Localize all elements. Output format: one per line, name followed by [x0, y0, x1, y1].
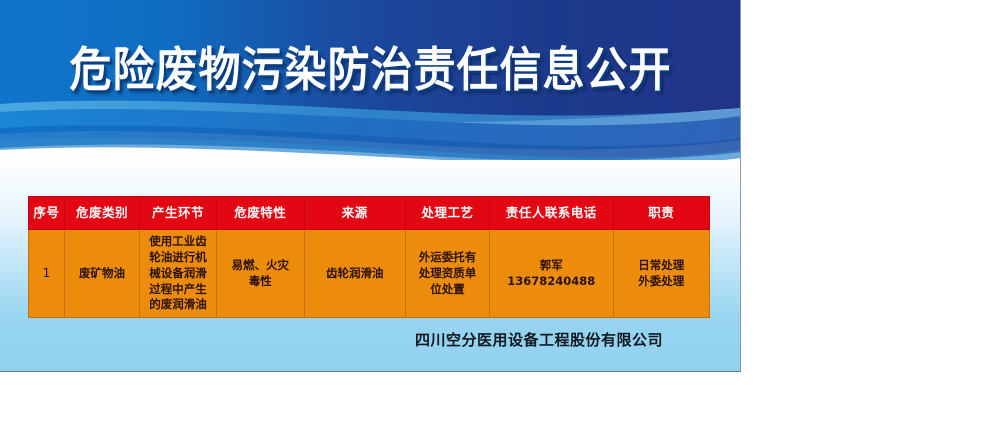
cell-treatment-process: 外运委托有 处理资质单 位处置	[405, 230, 489, 318]
cell-line: 械设备润滑	[143, 266, 213, 282]
table-header-row: 序号 危废类别 产生环节 危废特性 来源 处理工艺 责任人联系电话 职责	[29, 197, 710, 230]
cell-category: 废矿物油	[64, 230, 139, 318]
responsible-person-phone: 13678240488	[493, 274, 610, 290]
cell-line: 使用工业齿	[143, 234, 213, 250]
cell-responsible-contact: 郭军 13678240488	[489, 230, 613, 318]
column-header-seq: 序号	[29, 197, 65, 230]
banner-wave-graphic	[0, 0, 741, 160]
cell-seq: 1	[29, 230, 65, 318]
cell-generation-stage: 使用工业齿 轮油进行机 械设备润滑 过程中产生 的废润滑油	[140, 230, 217, 318]
responsible-person-name: 郭军	[493, 258, 610, 274]
column-header-category: 危废类别	[64, 197, 139, 230]
cell-line: 易燃、火灾	[220, 258, 301, 274]
cell-line: 位处置	[409, 282, 486, 298]
banner-header	[0, 0, 741, 160]
column-header-treatment: 处理工艺	[405, 197, 489, 230]
column-header-contact: 责任人联系电话	[489, 197, 613, 230]
column-header-hazard: 危废特性	[216, 197, 304, 230]
column-header-source: 来源	[304, 197, 405, 230]
cell-line: 处理资质单	[409, 266, 486, 282]
cell-source: 齿轮润滑油	[304, 230, 405, 318]
column-header-duty: 职责	[613, 197, 709, 230]
cell-hazard-characteristics: 易燃、火灾 毒性	[216, 230, 304, 318]
cell-line: 外运委托有	[409, 250, 486, 266]
information-disclosure-poster: 危险废物污染防治责任信息公开 序号 危废类别 产生环节 危废特性 来源 处理工艺…	[0, 0, 741, 372]
cell-line: 外委处理	[617, 274, 706, 290]
hazardous-waste-table: 序号 危废类别 产生环节 危废特性 来源 处理工艺 责任人联系电话 职责 1 废…	[28, 196, 710, 318]
company-name: 四川空分医用设备工程股份有限公司	[415, 329, 663, 350]
cell-line: 轮油进行机	[143, 250, 213, 266]
cell-duty: 日常处理 外委处理	[613, 230, 709, 318]
column-header-stage: 产生环节	[140, 197, 217, 230]
cell-line: 过程中产生	[143, 282, 213, 298]
cell-line: 的废润滑油	[143, 297, 213, 313]
table-row: 1 废矿物油 使用工业齿 轮油进行机 械设备润滑 过程中产生 的废润滑油 易燃、…	[29, 230, 710, 318]
cell-line: 日常处理	[617, 258, 706, 274]
cell-line: 毒性	[220, 274, 301, 290]
